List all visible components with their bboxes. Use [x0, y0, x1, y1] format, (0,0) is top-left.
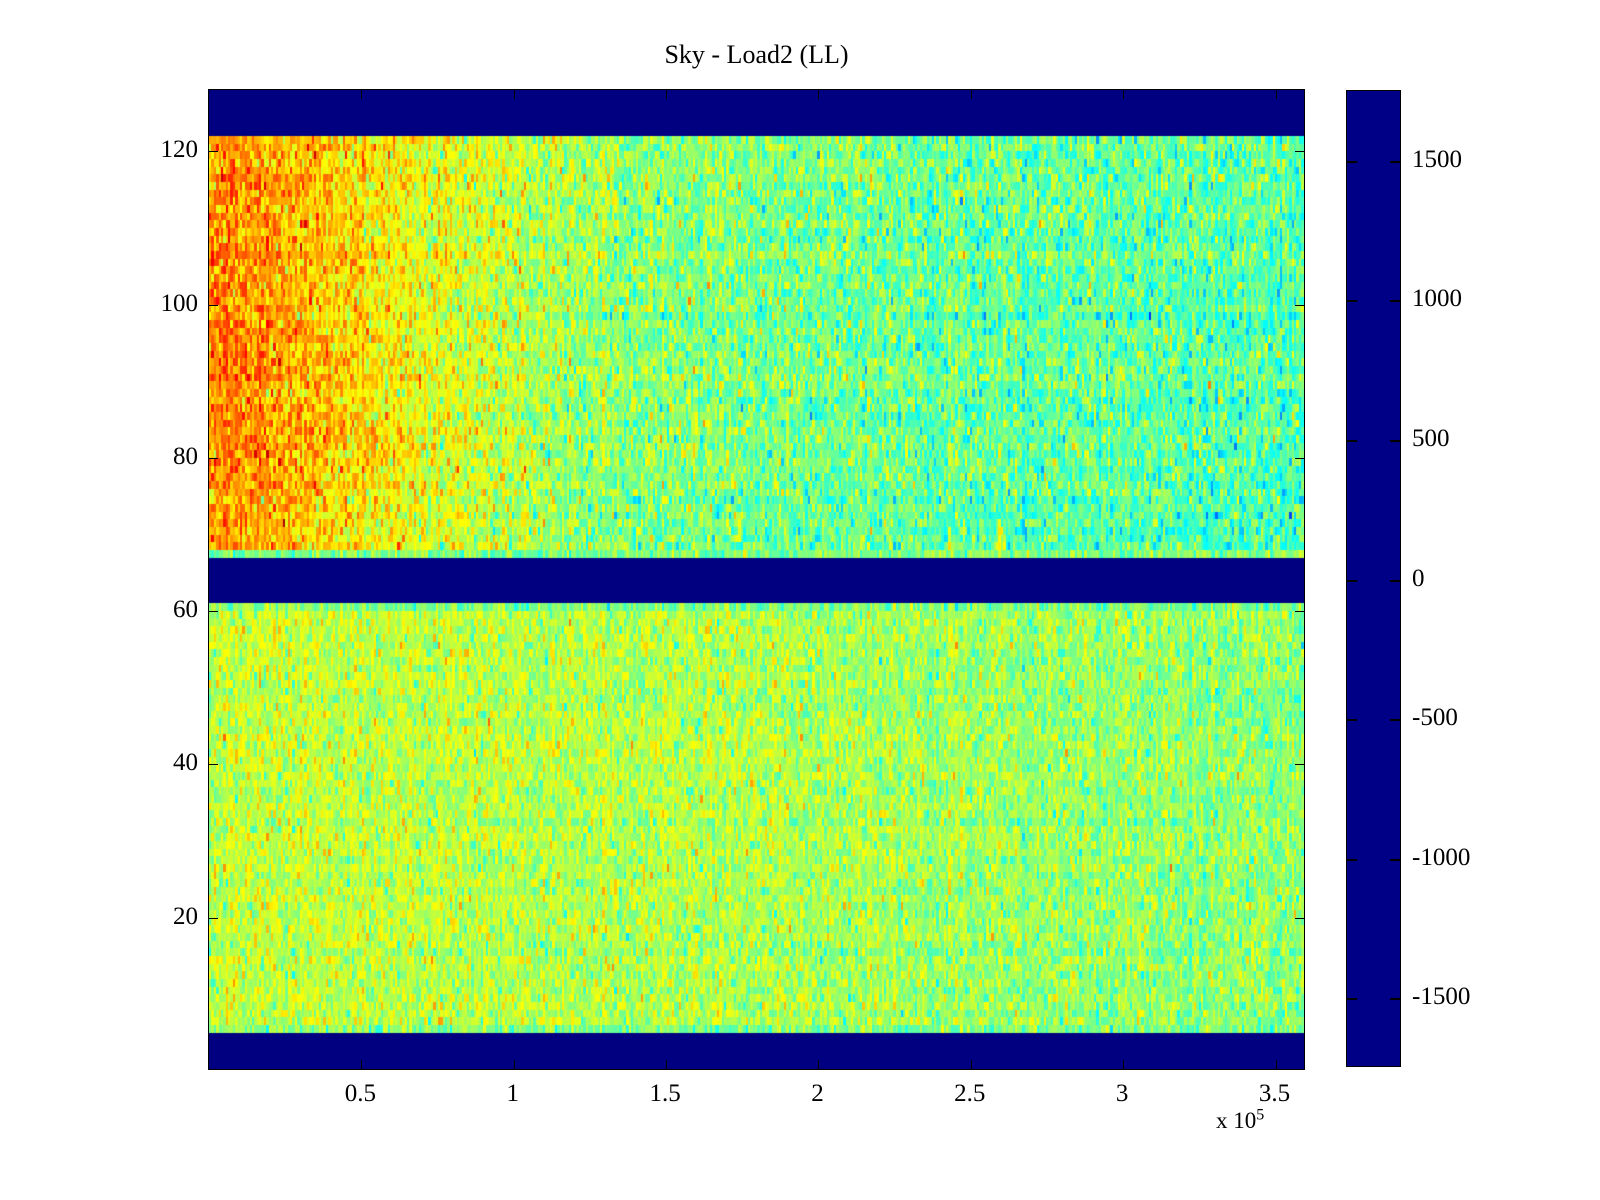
x-axis-tick — [971, 90, 972, 99]
y-axis-tick — [209, 611, 218, 612]
colorbar-tick — [1347, 440, 1357, 442]
x-axis-tick-label: 2 — [811, 1080, 824, 1108]
colorbar-tick — [1390, 998, 1400, 1000]
colorbar-tick-label: 0 — [1412, 565, 1425, 593]
x-axis-tick — [514, 90, 515, 99]
colorbar-tick-label: 1500 — [1412, 146, 1462, 174]
y-axis-tick-label: 60 — [173, 596, 198, 624]
colorbar[interactable] — [1346, 90, 1401, 1067]
y-axis-tick — [1295, 764, 1304, 765]
colorbar-tick — [1347, 300, 1357, 302]
x-axis-tick — [818, 1060, 819, 1069]
x-axis-tick — [1276, 1060, 1277, 1069]
heatmap-image — [209, 90, 1305, 1070]
x-axis-tick — [1276, 90, 1277, 99]
y-axis-tick — [209, 458, 218, 459]
page-title: Sky - Load2 (LL) — [208, 40, 1305, 70]
y-axis-tick — [1295, 918, 1304, 919]
colorbar-gradient — [1347, 91, 1400, 1066]
colorbar-tick — [1390, 859, 1400, 861]
x-exponent-base: x 10 — [1216, 1108, 1256, 1133]
y-axis-tick — [209, 764, 218, 765]
x-axis-tick-label: 1 — [506, 1080, 519, 1108]
y-axis-tick — [1295, 151, 1304, 152]
x-axis-tick-label: 3 — [1116, 1080, 1129, 1108]
colorbar-tick — [1347, 998, 1357, 1000]
y-axis-tick — [1295, 611, 1304, 612]
x-axis-tick — [666, 1060, 667, 1069]
colorbar-tick-label: 500 — [1412, 425, 1450, 453]
y-axis-tick — [209, 305, 218, 306]
x-axis-tick-label: 1.5 — [649, 1080, 680, 1108]
colorbar-tick — [1390, 580, 1400, 582]
colorbar-tick — [1347, 580, 1357, 582]
colorbar-tick — [1347, 719, 1357, 721]
x-axis-tick — [361, 1060, 362, 1069]
y-axis-tick — [209, 151, 218, 152]
y-axis-tick-label: 20 — [173, 903, 198, 931]
colorbar-tick — [1390, 440, 1400, 442]
colorbar-tick — [1390, 300, 1400, 302]
x-axis-tick — [666, 90, 667, 99]
colorbar-tick-label: -1500 — [1412, 983, 1470, 1011]
x-axis-tick — [1123, 1060, 1124, 1069]
x-axis-tick-label: 3.5 — [1259, 1080, 1290, 1108]
x-axis-tick — [1123, 90, 1124, 99]
colorbar-tick-label: -500 — [1412, 704, 1458, 732]
colorbar-tick-label: -1000 — [1412, 844, 1470, 872]
x-axis-tick-label: 0.5 — [345, 1080, 376, 1108]
colorbar-tick — [1390, 161, 1400, 163]
x-axis-exponent-label: x 105 — [1216, 1108, 1264, 1134]
x-axis-tick — [818, 90, 819, 99]
y-axis-tick-label: 120 — [161, 136, 199, 164]
figure-canvas: Sky - Load2 (LL) 0.511.522.533.5 2040608… — [0, 0, 1600, 1200]
heatmap-plot-area[interactable] — [208, 89, 1305, 1070]
colorbar-tick — [1390, 719, 1400, 721]
y-axis-tick — [1295, 458, 1304, 459]
y-axis-tick-label: 100 — [161, 290, 199, 318]
y-axis-tick-label: 80 — [173, 443, 198, 471]
x-axis-tick — [971, 1060, 972, 1069]
colorbar-tick — [1347, 859, 1357, 861]
y-axis-tick-label: 40 — [173, 749, 198, 777]
y-axis-tick — [209, 918, 218, 919]
y-axis-tick — [1295, 305, 1304, 306]
x-axis-tick-label: 2.5 — [954, 1080, 985, 1108]
colorbar-tick-label: 1000 — [1412, 285, 1462, 313]
colorbar-tick — [1347, 161, 1357, 163]
x-axis-tick — [361, 90, 362, 99]
x-axis-tick — [514, 1060, 515, 1069]
x-exponent-power: 5 — [1256, 1106, 1264, 1123]
